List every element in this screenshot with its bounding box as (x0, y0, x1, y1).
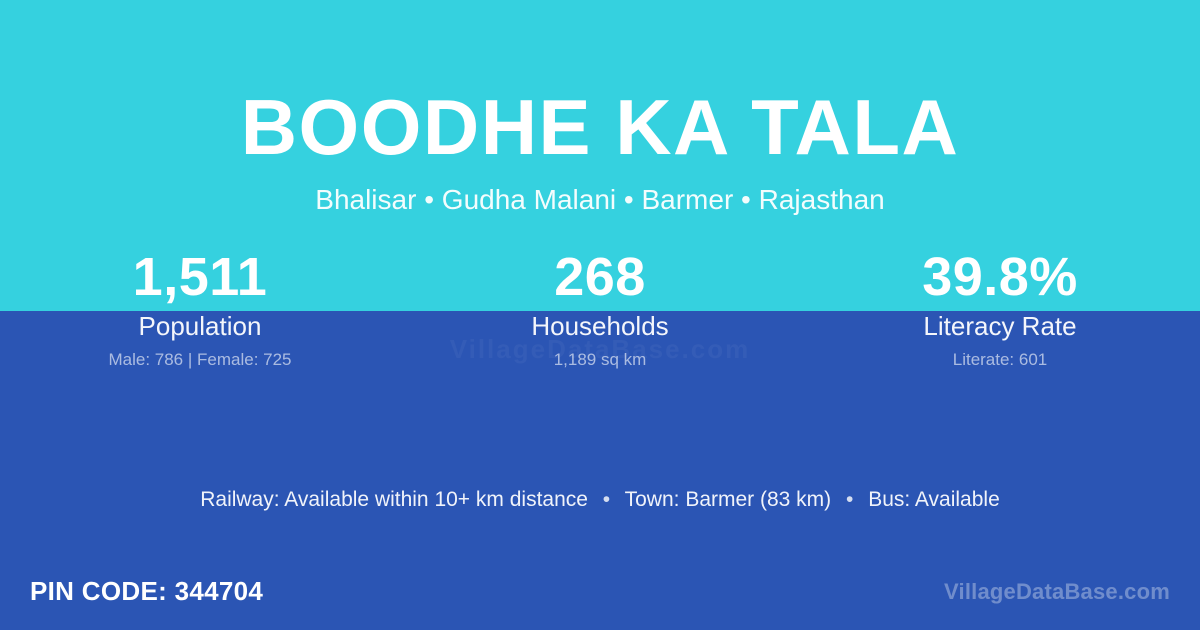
amenity-separator-2: • (837, 485, 862, 515)
stat-label-population: Population (0, 311, 400, 341)
village-info-card: VillageDataBase.com BOODHE KA TALA Bhali… (0, 0, 1200, 630)
stat-detail-population: Male: 786 | Female: 725 (0, 349, 400, 370)
amenities-line: Railway: Available within 10+ km distanc… (0, 485, 1200, 515)
stat-population: 1,511 Population Male: 786 | Female: 725 (0, 246, 400, 370)
breadcrumb: Bhalisar • Gudha Malani • Barmer • Rajas… (0, 183, 1200, 217)
stat-households: 268 Households 1,189 sq km (400, 246, 800, 370)
stat-value-population: 1,511 (0, 246, 400, 308)
stat-value-literacy-rate: 39.8% (800, 246, 1200, 308)
stat-value-households: 268 (400, 246, 800, 308)
pin-code: PIN CODE: 344704 (30, 575, 263, 607)
stat-literacy-rate: 39.8% Literacy Rate Literate: 601 (800, 246, 1200, 370)
amenity-separator-1: • (594, 485, 619, 515)
stat-detail-literacy-rate: Literate: 601 (800, 349, 1200, 370)
site-brand: VillageDataBase.com (944, 578, 1170, 606)
amenity-bus: Bus: Available (868, 488, 1000, 511)
stats-row: 1,511 Population Male: 786 | Female: 725… (0, 246, 1200, 370)
amenity-town: Town: Barmer (83 km) (625, 488, 832, 511)
stat-detail-households: 1,189 sq km (400, 349, 800, 370)
stat-label-households: Households (400, 311, 800, 341)
stat-label-literacy-rate: Literacy Rate (800, 311, 1200, 341)
amenity-railway: Railway: Available within 10+ km distanc… (200, 488, 588, 511)
page-title: BOODHE KA TALA (0, 84, 1200, 170)
